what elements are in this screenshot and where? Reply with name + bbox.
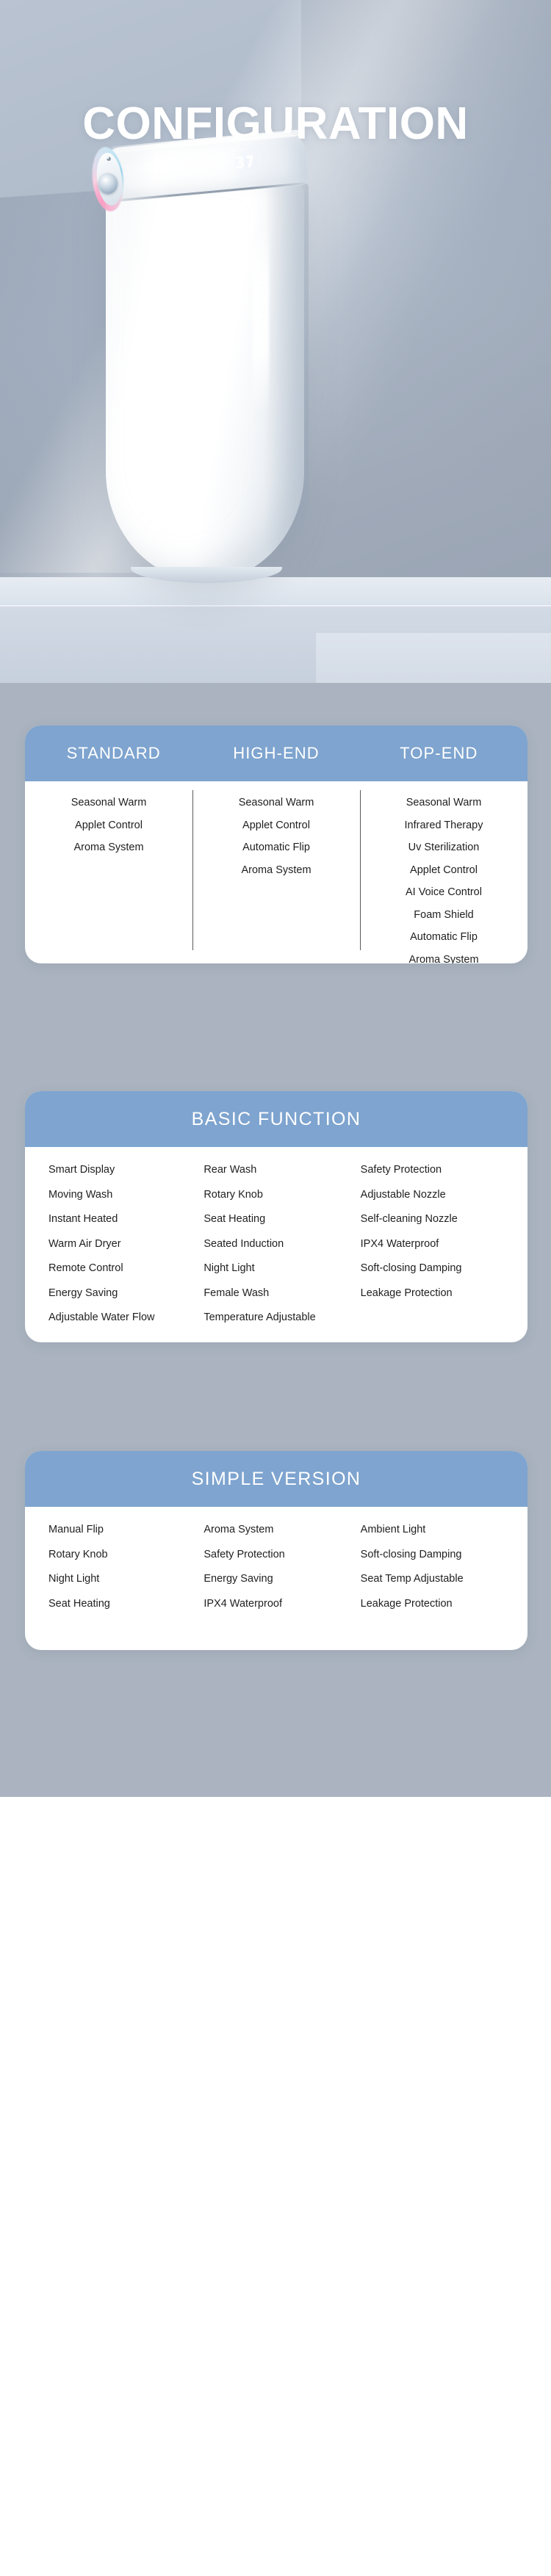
tier-label-top-end: TOP-END xyxy=(358,744,520,763)
list-item: Safety Protection xyxy=(199,1549,353,1560)
list-item: Applet Control xyxy=(410,865,478,876)
list-item: Night Light xyxy=(199,1263,353,1274)
tier-column-standard: Seasonal Warm Applet Control Aroma Syste… xyxy=(25,781,192,963)
list-item: Seat Heating xyxy=(199,1214,353,1225)
list-item xyxy=(356,1312,510,1323)
tier-body: Seasonal Warm Applet Control Aroma Syste… xyxy=(25,781,527,963)
section-title: BASIC FUNCTION xyxy=(192,1109,361,1130)
list-item: IPX4 Waterproof xyxy=(199,1599,353,1610)
list-item: Applet Control xyxy=(242,820,310,831)
tier-column-high-end: Seasonal Warm Applet Control Automatic F… xyxy=(192,781,360,963)
list-item: Rear Wash xyxy=(199,1165,353,1176)
smart-toilet-product-image: 37 ◕ xyxy=(96,129,316,585)
list-item: Aroma System xyxy=(73,842,143,853)
list-item: Seasonal Warm xyxy=(239,797,314,808)
list-item: Leakage Protection xyxy=(356,1288,510,1299)
configuration-page: CONFIGURATION 37 ◕ STANDARD HIGH-END TOP… xyxy=(0,0,551,2576)
list-item: Seated Induction xyxy=(199,1239,353,1250)
list-item: Uv Sterilization xyxy=(408,842,480,853)
tier-header-row: STANDARD HIGH-END TOP-END xyxy=(25,726,527,781)
pedestal-side-block xyxy=(316,633,551,683)
tier-label-standard: STANDARD xyxy=(32,744,195,763)
list-item: Night Light xyxy=(43,1574,196,1585)
hero-shadow-right xyxy=(301,0,551,514)
list-item: Self-cleaning Nozzle xyxy=(356,1214,510,1225)
list-item: Seat Temp Adjustable xyxy=(356,1574,510,1585)
tier-columns: Seasonal Warm Applet Control Aroma Syste… xyxy=(25,781,527,963)
rotary-knob-icon xyxy=(98,173,118,194)
basic-function-header: BASIC FUNCTION xyxy=(25,1091,527,1147)
list-item: Manual Flip xyxy=(43,1524,196,1535)
list-item: Energy Saving xyxy=(199,1574,353,1585)
list-item: IPX4 Waterproof xyxy=(356,1239,510,1250)
simple-version-header: SIMPLE VERSION xyxy=(25,1451,527,1507)
list-item: Automatic Flip xyxy=(410,932,478,943)
list-item: Ambient Light xyxy=(356,1524,510,1535)
list-item: Seasonal Warm xyxy=(71,797,147,808)
list-item: Infrared Therapy xyxy=(405,820,483,831)
list-item: Soft-closing Damping xyxy=(356,1263,510,1274)
wifi-icon: ◕ xyxy=(102,153,115,164)
basic-function-card: BASIC FUNCTION Smart Display Rear Wash S… xyxy=(25,1091,527,1342)
list-item: Leakage Protection xyxy=(356,1599,510,1610)
list-item: Moving Wash xyxy=(43,1190,196,1201)
list-item: Aroma System xyxy=(408,955,478,964)
list-item: Aroma System xyxy=(241,865,311,876)
list-item: Soft-closing Damping xyxy=(356,1549,510,1560)
simple-version-card: SIMPLE VERSION Manual Flip Aroma System … xyxy=(25,1451,527,1650)
list-item: Foam Shield xyxy=(414,910,473,921)
toilet-base xyxy=(131,567,282,583)
basic-function-grid: Smart Display Rear Wash Safety Protectio… xyxy=(25,1147,527,1342)
tier-column-top-end: Seasonal Warm Infrared Therapy Uv Steril… xyxy=(360,781,527,963)
toilet-gloss-highlight xyxy=(253,217,269,416)
list-item: Rotary Knob xyxy=(199,1190,353,1201)
list-item: Safety Protection xyxy=(356,1165,510,1176)
list-item: Adjustable Nozzle xyxy=(356,1190,510,1201)
list-item: Rotary Knob xyxy=(43,1549,196,1560)
hero-banner: CONFIGURATION 37 ◕ xyxy=(0,0,551,683)
list-item: Female Wash xyxy=(199,1288,353,1299)
list-item: Instant Heated xyxy=(43,1214,196,1225)
list-item: AI Voice Control xyxy=(406,887,482,898)
list-item: Aroma System xyxy=(199,1524,353,1535)
list-item: Seasonal Warm xyxy=(406,797,482,808)
section-title: SIMPLE VERSION xyxy=(192,1469,361,1490)
list-item: Seat Heating xyxy=(43,1599,196,1610)
list-item: Energy Saving xyxy=(43,1288,196,1299)
list-item: Automatic Flip xyxy=(242,842,310,853)
list-item: Temperature Adjustable xyxy=(199,1312,353,1323)
temperature-display: 37 xyxy=(224,150,267,176)
list-item: Applet Control xyxy=(75,820,143,831)
tier-comparison-card: STANDARD HIGH-END TOP-END Seasonal Warm … xyxy=(25,726,527,963)
list-item: Remote Control xyxy=(43,1263,196,1274)
tier-label-high-end: HIGH-END xyxy=(195,744,357,763)
list-item: Warm Air Dryer xyxy=(43,1239,196,1250)
list-item: Adjustable Water Flow xyxy=(43,1312,196,1323)
list-item: Smart Display xyxy=(43,1165,196,1176)
simple-version-grid: Manual Flip Aroma System Ambient Light R… xyxy=(25,1507,527,1650)
